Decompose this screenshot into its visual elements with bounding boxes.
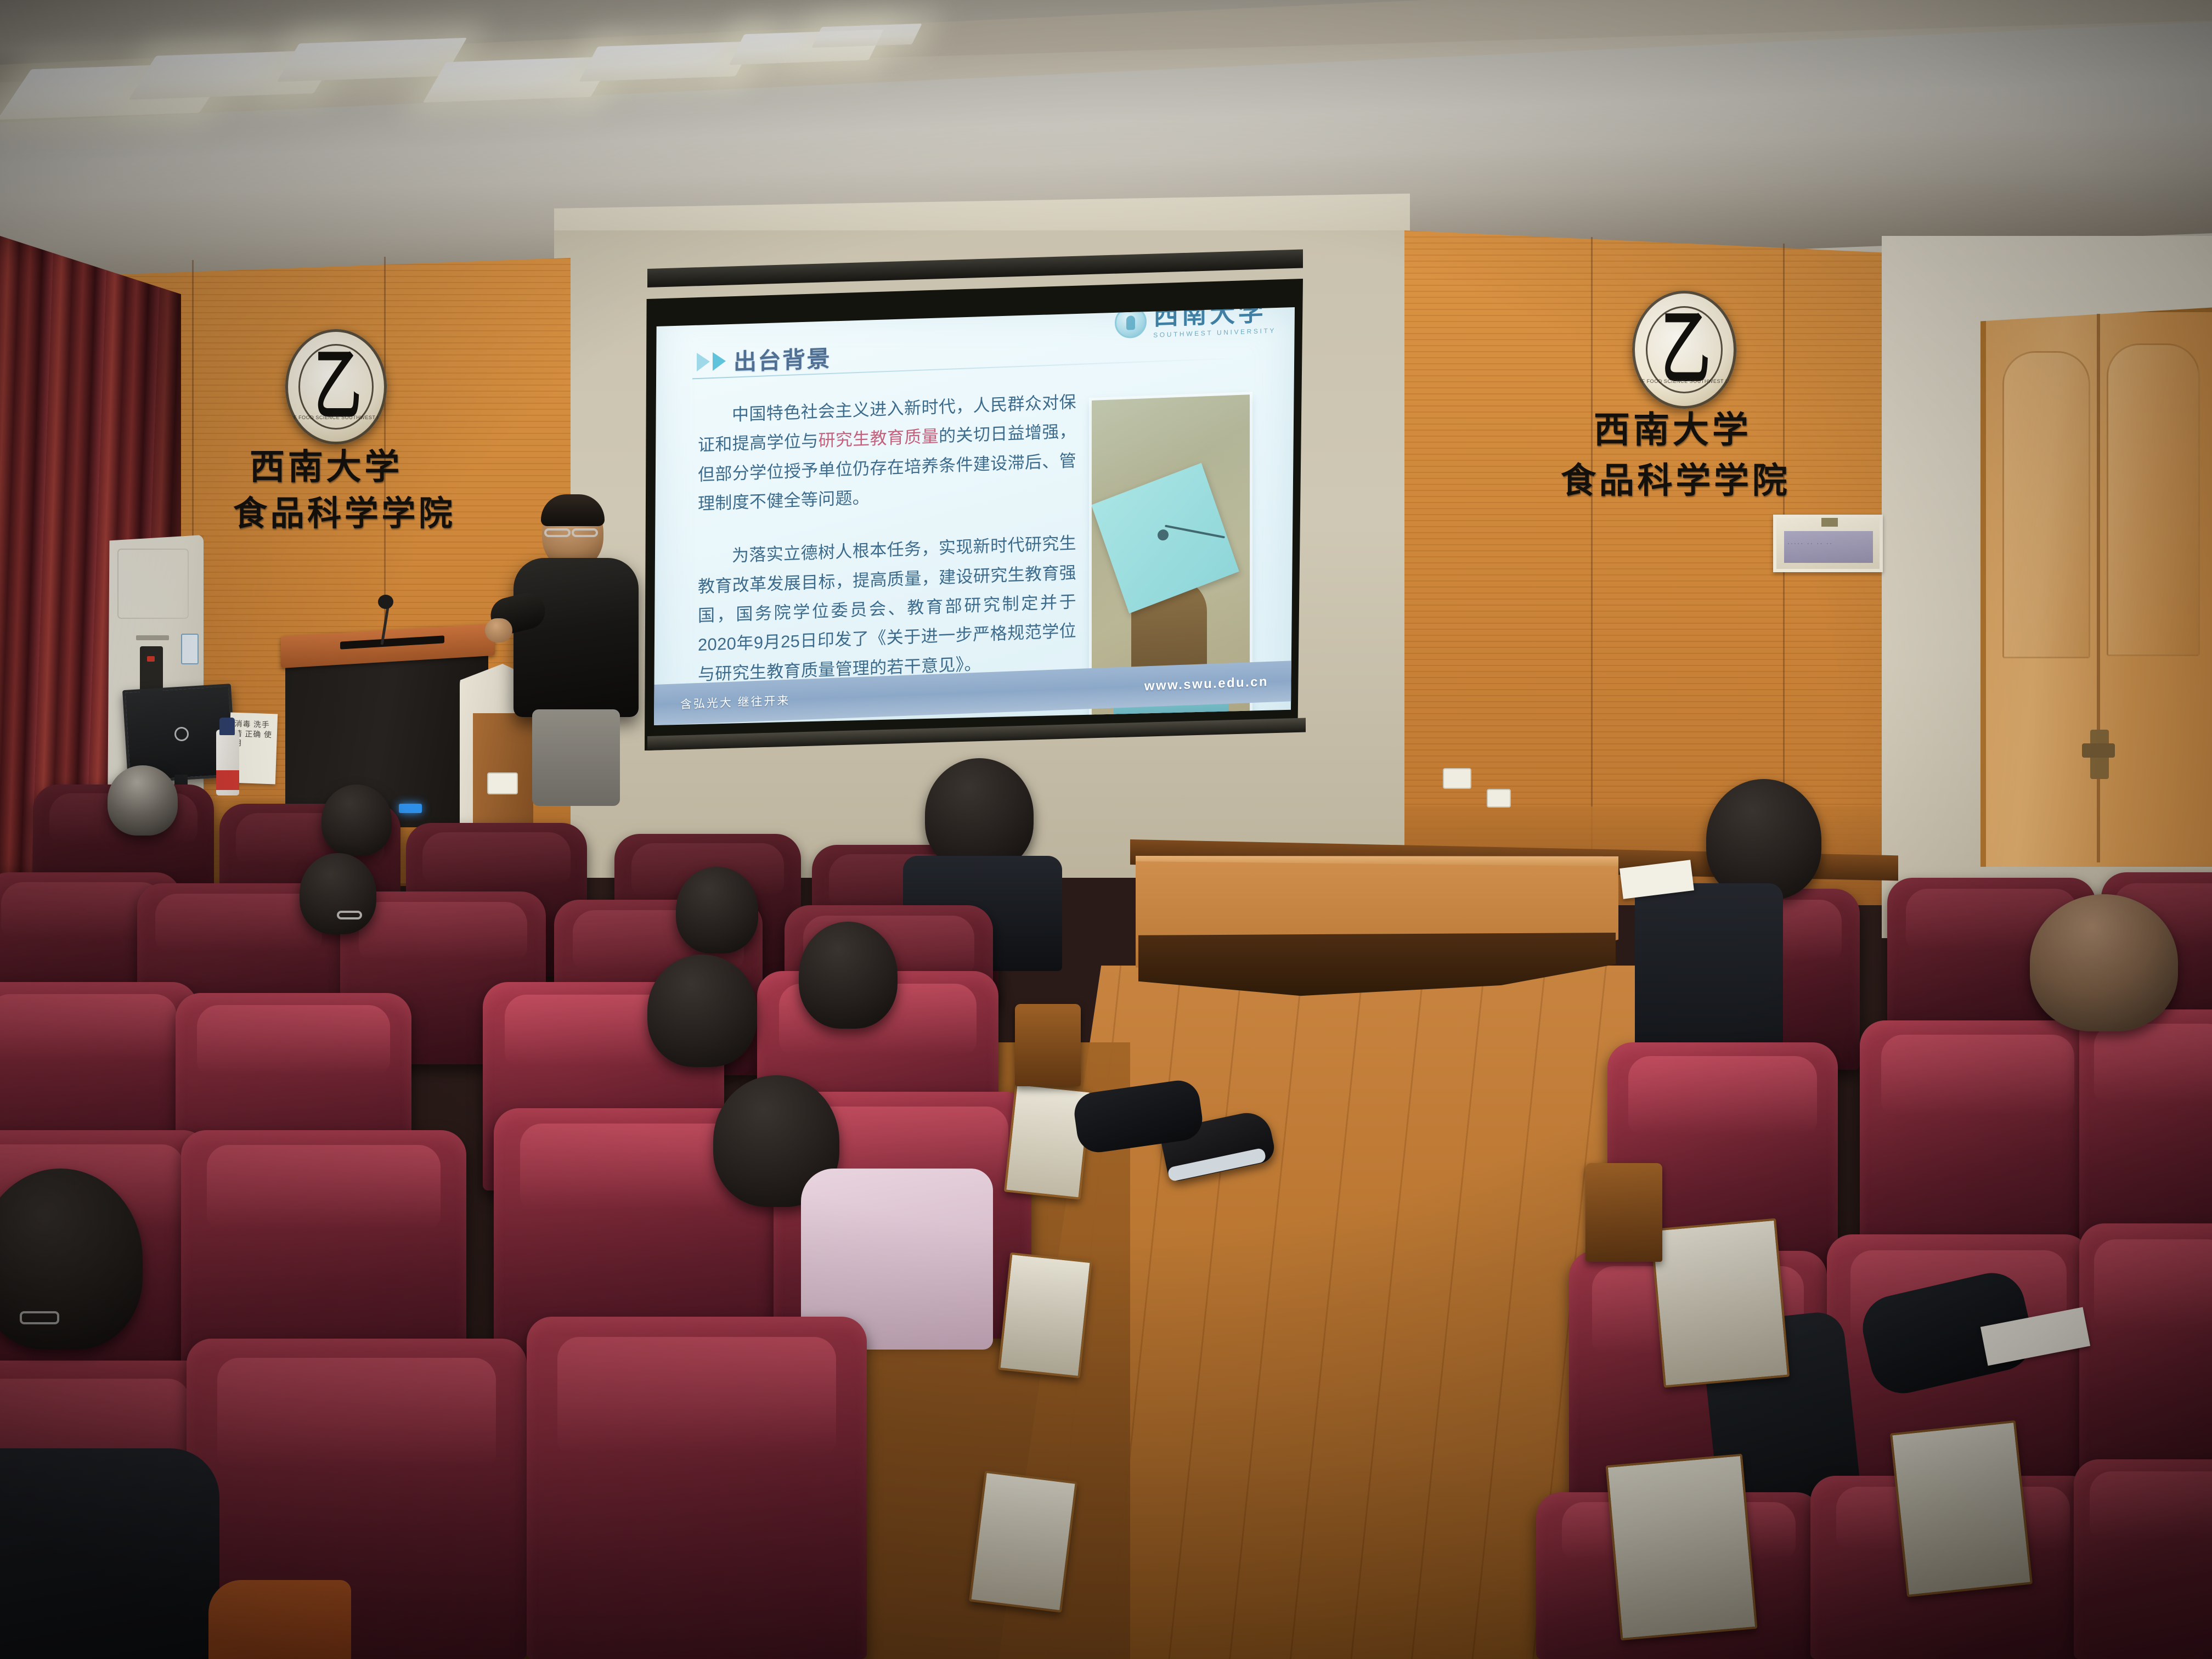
college-emblem: 乙 COLLEGE OF FOOD SCIENCE SOUTHWEST UNIV… (285, 329, 387, 444)
attendee-shoulder-foreground (0, 1448, 219, 1659)
door-handle[interactable] (2082, 743, 2115, 758)
attendee-head (300, 853, 376, 934)
auditorium-seat[interactable] (2079, 1009, 2212, 1245)
slide-footer-url: www.swu.edu.cn (1144, 674, 1268, 694)
attendee-glasses (20, 1311, 59, 1324)
attendee-head (1706, 779, 1821, 900)
air-conditioner-sticker (181, 634, 199, 664)
presenter-jacket (513, 558, 639, 717)
emblem-label: COLLEGE OF FOOD SCIENCE SOUTHWEST UNIVER… (285, 415, 387, 420)
seat-writing-desk (998, 1252, 1092, 1379)
emblem-inner-ring: 乙 COLLEGE OF FOOD SCIENCE SOUTHWEST UNIV… (1646, 306, 1723, 393)
triangle-bullet-icon (697, 352, 710, 371)
seat-writing-desk (1890, 1420, 2033, 1597)
attendee-head (925, 758, 1034, 871)
presenter-hand (485, 618, 512, 642)
wall-plaque-text: ····· ·· ·· ·· (1787, 540, 1871, 552)
seat-writing-desk (1606, 1454, 1758, 1641)
air-conditioner-brand-label (136, 635, 169, 640)
presenter (494, 496, 658, 804)
attendee-orange-sleeve (208, 1580, 351, 1659)
university-logo: 西南大学 SOUTHWEST UNIVERSITY (1115, 307, 1276, 340)
presenter-trousers (532, 709, 620, 806)
hand-sanitizer-pump (219, 718, 235, 735)
lecture-hall-photo: 乙 COLLEGE OF FOOD SCIENCE SOUTHWEST UNIV… (0, 0, 2212, 1659)
emblem-inner-ring: 乙 COLLEGE OF FOOD SCIENCE SOUTHWEST UNIV… (298, 344, 374, 429)
hand-sanitizer-label (216, 770, 239, 790)
wall-sign-university-name: 西南大学 (250, 439, 403, 489)
presenter-glasses (544, 528, 571, 537)
slide-body: 中国特色社会主义进入新时代，人民群众对保证和提高学位与研究生教育质量的关切日益增… (698, 387, 1076, 713)
door-panel (2002, 351, 2090, 658)
university-logo-text: 西南大学 SOUTHWEST UNIVERSITY (1153, 307, 1276, 339)
wall-seam (1591, 237, 1593, 901)
attendee-head (2030, 894, 2178, 1031)
wall-sign-college-name: 食品科学学院 (233, 486, 455, 535)
attendee-glasses (337, 911, 362, 919)
seat-writing-desk (969, 1471, 1077, 1613)
emblem-label: COLLEGE OF FOOD SCIENCE SOUTHWEST UNIVER… (1632, 379, 1736, 384)
wall-socket[interactable] (1443, 768, 1471, 789)
ceiling-light-panel (811, 24, 922, 48)
attendee-head (799, 922, 898, 1029)
lectern-indicator-light (399, 804, 422, 813)
wall-sign-university-name: 西南大学 (1594, 400, 1752, 453)
emblem-mark: 乙 (314, 356, 358, 417)
seat-armrest (1585, 1163, 1662, 1262)
slide-highlight-text: 研究生教育质量 (819, 427, 939, 450)
wall-plaque-clip (1821, 518, 1838, 527)
seat-armrest (1015, 1004, 1081, 1086)
auditorium-seat[interactable] (2079, 1223, 2212, 1487)
presenter-hair (541, 494, 605, 526)
wall-socket[interactable] (1487, 789, 1511, 808)
slide-paragraph-2: 为落实立德树人根本任务，实现新时代研究生教育改革发展目标，提高质量，建设研究生教… (698, 528, 1076, 689)
lectern (285, 646, 488, 827)
attendee-head (676, 867, 758, 953)
auditorium-seat[interactable] (2074, 1459, 2212, 1659)
slide-content: 出台背景 西南大学 SOUTHWEST UNIVERSITY 中国特色社会主义进… (654, 307, 1295, 725)
microphone-icon (378, 595, 393, 609)
projected-slide: 出台背景 西南大学 SOUTHWEST UNIVERSITY 中国特色社会主义进… (654, 307, 1295, 725)
slide-title: 出台背景 (733, 340, 831, 377)
presenter-glasses (572, 528, 598, 537)
slide-footer-motto: 含弘光大 继往开来 (680, 692, 790, 713)
attendee-head (647, 955, 757, 1067)
wall-sign-college-name: 食品科学学院 (1561, 453, 1791, 503)
auditorium-seat[interactable] (527, 1317, 867, 1659)
ceiling-light-panel (579, 41, 754, 82)
attendee-head (321, 785, 392, 856)
college-emblem: 乙 COLLEGE OF FOOD SCIENCE SOUTHWEST UNIV… (1632, 291, 1736, 409)
air-conditioner-grille (117, 549, 189, 619)
seat-writing-desk (1650, 1218, 1790, 1388)
emblem-mark: 乙 (1662, 318, 1707, 381)
attendee-head (108, 765, 178, 836)
power-led-icon (147, 656, 155, 662)
slide-paragraph-1: 中国特色社会主义进入新时代，人民群众对保证和提高学位与研究生教育质量的关切日益增… (698, 387, 1076, 518)
triangle-bullet-icon (713, 352, 726, 371)
door-center-seam (2097, 314, 2100, 862)
slide-title-row: 出台背景 (697, 340, 831, 379)
auditorium-seat[interactable] (1860, 1020, 2096, 1256)
door-panel (2107, 343, 2200, 656)
